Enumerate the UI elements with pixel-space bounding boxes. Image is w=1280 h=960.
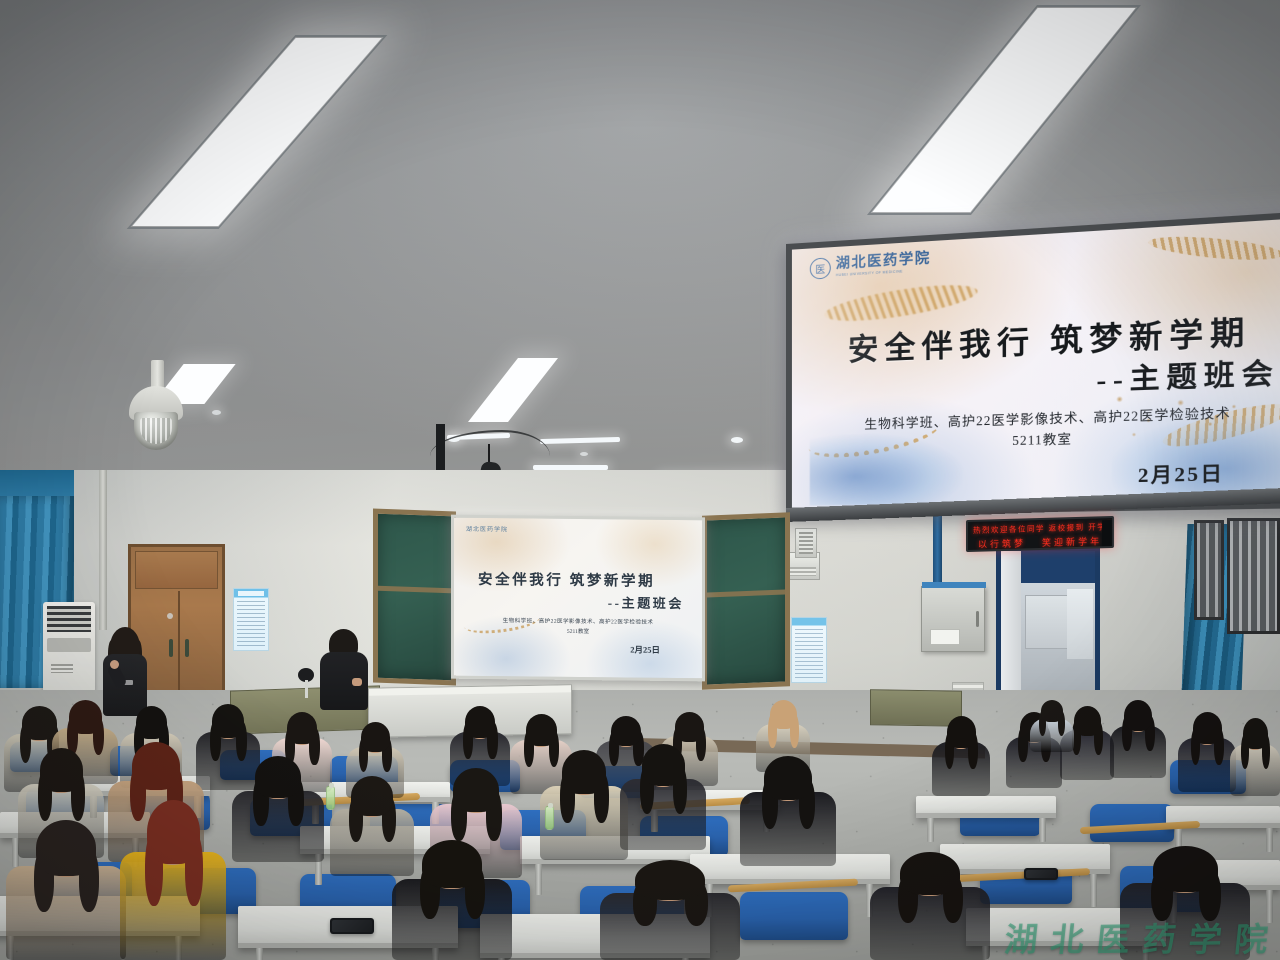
wall-poster-icon: [791, 617, 827, 683]
desk-leg: [535, 864, 542, 895]
hair: [453, 768, 499, 812]
projected-title: 安全伴我行 筑梦新学期: [478, 568, 690, 591]
chalkboard-right: [702, 512, 790, 689]
torso: [740, 792, 836, 866]
hair: [947, 716, 976, 748]
presenter-right: [318, 632, 370, 710]
audience-person: [1178, 712, 1236, 792]
torso: [232, 791, 324, 862]
torso: [1110, 726, 1166, 778]
desk-leg: [927, 818, 934, 842]
smartphone-icon[interactable]: [330, 918, 374, 934]
desk-leg: [1266, 828, 1273, 852]
hair: [465, 706, 495, 738]
water-bottle-icon[interactable]: [326, 786, 335, 810]
wall-speaker-icon: [795, 528, 817, 558]
audience-person: [120, 800, 226, 960]
classroom-photo-scene: 医 湖北医药学院 HUBEI UNIVERSITY OF MEDICINE 安全…: [0, 0, 1280, 960]
hair: [69, 700, 102, 734]
hair: [635, 860, 705, 900]
hair: [136, 706, 167, 739]
hair: [675, 712, 704, 742]
water-bottle-icon[interactable]: [545, 806, 554, 830]
hair: [132, 742, 180, 790]
audience-person: [870, 852, 990, 960]
audience-person: [932, 716, 990, 796]
downlight-icon: [731, 437, 743, 443]
led-wall-display: 医 湖北医药学院 HUBEI UNIVERSITY OF MEDICINE 安全…: [786, 210, 1280, 516]
hair: [1153, 846, 1218, 892]
hair: [764, 756, 812, 800]
hair: [1243, 718, 1268, 749]
desk-leg: [1266, 890, 1273, 923]
downlight-icon: [212, 410, 221, 415]
torso: [932, 742, 990, 796]
torso: [392, 879, 512, 960]
torso: [120, 852, 226, 960]
desk-leg: [256, 948, 263, 960]
ticker-line-2-left: 以行筑梦: [978, 536, 1026, 550]
torso: [600, 893, 740, 960]
hair: [770, 700, 797, 729]
torso: [620, 779, 706, 850]
hair: [1041, 700, 1063, 722]
ticker-line-2-right: 笑迎新学年: [1042, 534, 1102, 549]
torso: [1030, 718, 1074, 752]
audience-person: [740, 756, 836, 866]
barred-window-right-inner: [1194, 520, 1224, 620]
smartphone-icon[interactable]: [1024, 868, 1058, 880]
hair: [212, 704, 244, 738]
downlight-icon: [580, 452, 588, 456]
hair: [1193, 712, 1222, 744]
torso: [6, 866, 126, 960]
hair: [1074, 706, 1101, 736]
hair: [147, 800, 200, 864]
dome-camera-icon: [125, 360, 187, 452]
university-seal-icon: 医: [810, 257, 831, 279]
hair: [255, 756, 301, 798]
desk-edge: [916, 813, 1056, 818]
projection-screen: 湖北医药学院 安全伴我行 筑梦新学期 --主题班会 生物科学班、高护22医学影像…: [451, 515, 705, 682]
audience-person: [1030, 700, 1074, 752]
hair: [526, 714, 557, 746]
hair: [422, 840, 482, 888]
chalkboard-left: [373, 509, 456, 686]
barred-window-right: [1227, 518, 1280, 634]
torso: [870, 887, 990, 960]
desk-leg: [1090, 874, 1097, 907]
floor-ac-unit-icon: [43, 602, 95, 692]
torso: [1120, 883, 1250, 960]
hair: [351, 776, 393, 816]
audience-person: [392, 840, 512, 960]
audience-person: [1230, 718, 1280, 796]
hair: [562, 750, 606, 794]
hair: [1124, 700, 1152, 731]
hair: [36, 820, 96, 876]
projected-date: 2月25日: [630, 644, 660, 656]
audience-person: [232, 756, 324, 862]
audience-person: [620, 744, 706, 850]
wall-pipe: [99, 470, 107, 630]
handheld-microphone-icon: [298, 668, 314, 698]
hair: [900, 852, 960, 895]
hair: [642, 744, 685, 786]
desk: [916, 796, 1056, 818]
led-scrolling-ticker: 热烈欢迎各位同学 返校报到 开学季快乐 以行筑梦 笑迎新学年: [966, 516, 1114, 552]
torso: [1230, 744, 1280, 796]
projected-subtitle: --主题班会: [608, 592, 684, 612]
wall-poster-icon: [233, 588, 269, 651]
hair: [287, 712, 317, 744]
seat[interactable]: [740, 892, 848, 940]
audience-person: [540, 750, 628, 860]
audience-person: [6, 820, 126, 960]
blackboard-assembly: 湖北医药学院 安全伴我行 筑梦新学期 --主题班会 生物科学班、高护22医学影像…: [371, 510, 791, 688]
hair: [611, 716, 641, 746]
audience-person: [600, 860, 740, 960]
torso: [1178, 738, 1236, 792]
hair: [361, 722, 390, 752]
projected-university-logo: 湖北医药学院: [466, 524, 508, 533]
slide-subtitle: --主题班会: [1096, 350, 1279, 399]
slide-date: 2月25日: [1138, 458, 1224, 489]
electrical-cabinet-icon: [921, 586, 985, 652]
desk-leg: [1039, 818, 1046, 842]
hair: [40, 748, 83, 792]
audience-person: [1110, 700, 1166, 778]
audience-person: [1120, 846, 1250, 960]
ticker-line-2: 以行筑梦 笑迎新学年: [978, 534, 1107, 551]
